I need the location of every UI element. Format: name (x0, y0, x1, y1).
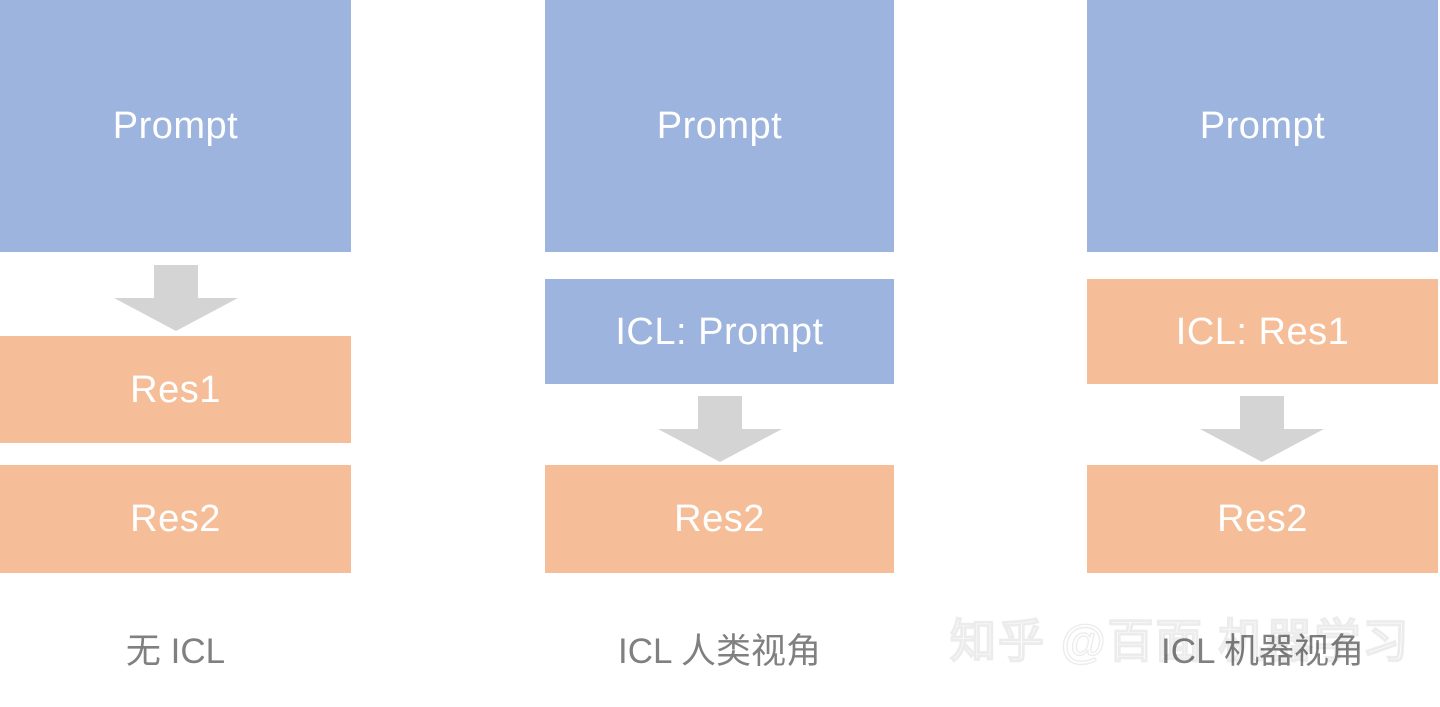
col3-res2-label: Res2 (1217, 500, 1308, 538)
col3-caption: ICL 机器视角 (1087, 634, 1438, 669)
col2-caption: ICL 人类视角 (545, 634, 894, 669)
col2-res2-label: Res2 (674, 500, 765, 538)
col1-prompt-box: Prompt (0, 0, 351, 252)
col3-icl-res1-label: ICL: Res1 (1176, 313, 1349, 351)
col2-down-arrow-icon (658, 396, 782, 462)
col1-prompt-label: Prompt (113, 107, 238, 145)
col1-res2-label: Res2 (130, 500, 221, 538)
col3-prompt-label: Prompt (1200, 107, 1325, 145)
col1-res2-box: Res2 (0, 465, 351, 573)
col3-prompt-box: Prompt (1087, 0, 1438, 252)
col1-caption: 无 ICL (0, 634, 351, 669)
col3-down-arrow-icon (1200, 396, 1324, 462)
col3-res2-box: Res2 (1087, 465, 1438, 573)
col2-res2-box: Res2 (545, 465, 894, 573)
diagram-canvas: Prompt Res1 Res2 无 ICL Prompt ICL: Promp… (0, 0, 1440, 707)
col3-icl-res1-box: ICL: Res1 (1087, 279, 1438, 384)
col2-prompt-box: Prompt (545, 0, 894, 252)
col1-res1-box: Res1 (0, 336, 351, 443)
col2-icl-prompt-box: ICL: Prompt (545, 279, 894, 384)
col2-prompt-label: Prompt (657, 107, 782, 145)
col2-icl-prompt-label: ICL: Prompt (615, 313, 823, 351)
col1-down-arrow-icon (114, 265, 238, 331)
col1-res1-label: Res1 (130, 371, 221, 409)
